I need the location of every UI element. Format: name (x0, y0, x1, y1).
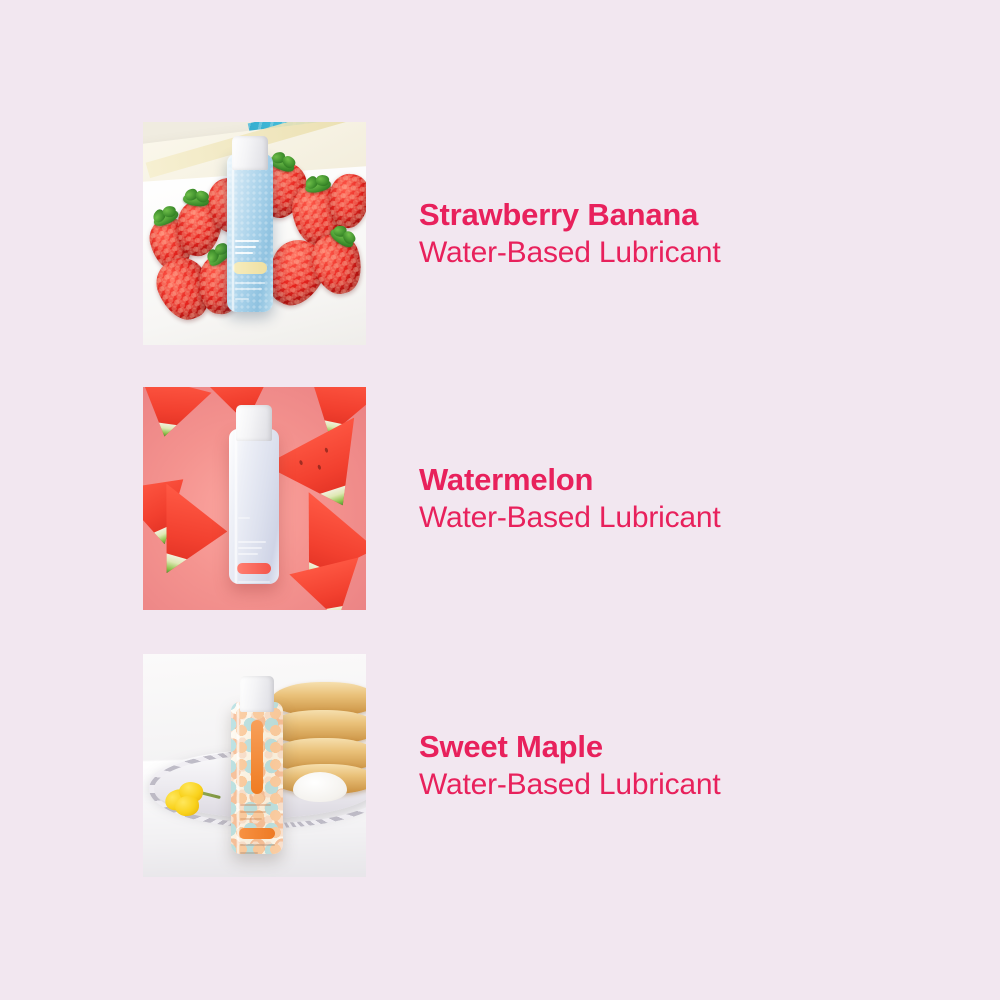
flavor-badge (239, 828, 274, 839)
product-caption: Strawberry Banana Water-Based Lubricant (419, 197, 721, 271)
product-bottle (227, 154, 273, 312)
product-showcase-board: Strawberry Banana Water-Based Lubricant (0, 0, 1000, 1000)
product-flavor-name: Strawberry Banana (419, 197, 721, 234)
product-flavor-name: Sweet Maple (419, 729, 721, 766)
label-line (240, 804, 270, 806)
label-line (238, 541, 266, 543)
flavor-badge (237, 563, 271, 574)
label-line (235, 246, 255, 248)
whipped-cream (293, 772, 347, 802)
label-line (235, 282, 264, 284)
label-line (235, 298, 249, 300)
product-row[interactable]: Watermelon Water-Based Lubricant (143, 387, 943, 610)
product-subtitle: Water-Based Lubricant (419, 235, 721, 270)
product-bottle (229, 429, 279, 584)
label-line (235, 240, 259, 242)
product-subtitle: Water-Based Lubricant (419, 500, 721, 535)
yellow-flower (165, 782, 209, 818)
watermelon-product-photo[interactable] (143, 387, 366, 610)
bottle-glare (234, 429, 239, 584)
label-line (240, 811, 266, 813)
product-bottle (231, 702, 283, 854)
label-line (235, 288, 262, 290)
watermelon-seed (299, 460, 303, 466)
product-row[interactable]: Sweet Maple Water-Based Lubricant (143, 654, 943, 877)
label-line (240, 844, 274, 846)
label-line (238, 517, 250, 519)
label-line (238, 581, 270, 583)
product-row[interactable]: Strawberry Banana Water-Based Lubricant (143, 122, 943, 345)
bottle-orange-stripe (251, 720, 263, 794)
flower-petal (174, 795, 199, 817)
watermelon-seed (324, 447, 328, 453)
sweet-maple-product-photo[interactable] (143, 654, 366, 877)
product-flavor-name: Watermelon (419, 462, 721, 499)
product-subtitle: Water-Based Lubricant (419, 767, 721, 802)
bottle-cap (236, 405, 272, 441)
watermelon-seed (317, 464, 321, 470)
label-line (238, 553, 258, 555)
product-caption: Sweet Maple Water-Based Lubricant (419, 729, 721, 803)
label-line (238, 547, 262, 549)
bottle-cap (232, 136, 268, 170)
label-line (240, 852, 258, 854)
flavor-badge (233, 262, 267, 274)
label-line (240, 818, 262, 820)
product-caption: Watermelon Water-Based Lubricant (419, 462, 721, 536)
label-line (235, 252, 252, 254)
strawberry-banana-product-photo[interactable] (143, 122, 366, 345)
bottle-cap (240, 676, 274, 712)
